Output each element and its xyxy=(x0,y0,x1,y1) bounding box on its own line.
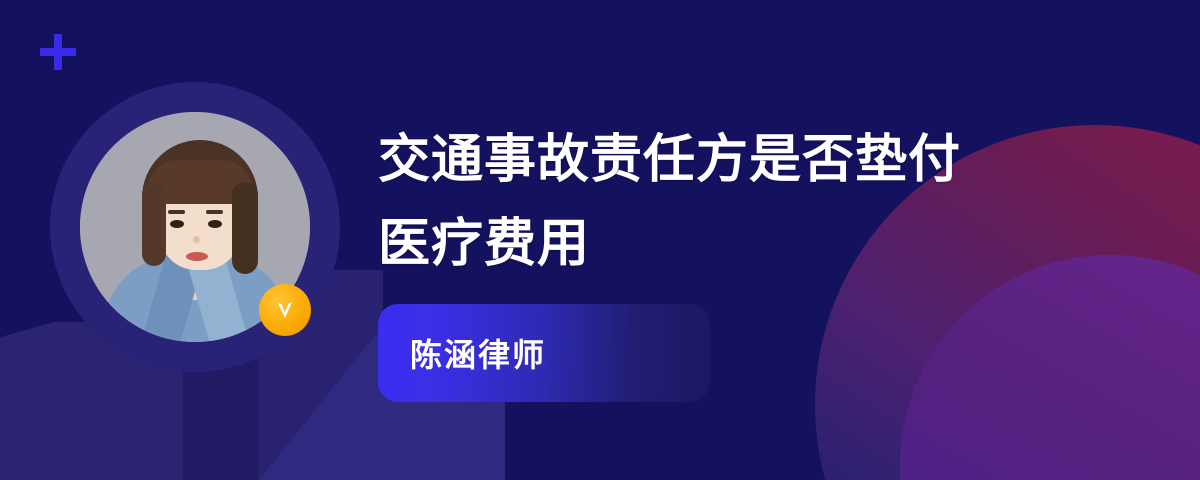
portrait-brow-left xyxy=(168,210,185,214)
portrait-nose xyxy=(193,236,200,243)
lawyer-name-badge[interactable]: 陈涵律师 xyxy=(378,304,710,402)
lawyer-article-banner: 交通事故责任方是否垫付 医疗费用 陈涵律师 xyxy=(0,0,1200,480)
page-title: 交通事故责任方是否垫付 医疗费用 xyxy=(378,118,1098,286)
lawyer-name-label: 陈涵律师 xyxy=(378,330,546,376)
verified-v-icon xyxy=(259,284,311,336)
portrait-brow-right xyxy=(206,210,223,214)
portrait-eye-left xyxy=(170,220,184,228)
avatar xyxy=(50,82,340,372)
portrait-hair-left xyxy=(142,182,166,266)
plus-icon xyxy=(40,34,76,70)
portrait-lips xyxy=(186,252,208,261)
banner-content: 交通事故责任方是否垫付 医疗费用 陈涵律师 xyxy=(378,118,1098,402)
portrait-eye-right xyxy=(208,220,222,228)
portrait-hair-right xyxy=(232,182,258,274)
